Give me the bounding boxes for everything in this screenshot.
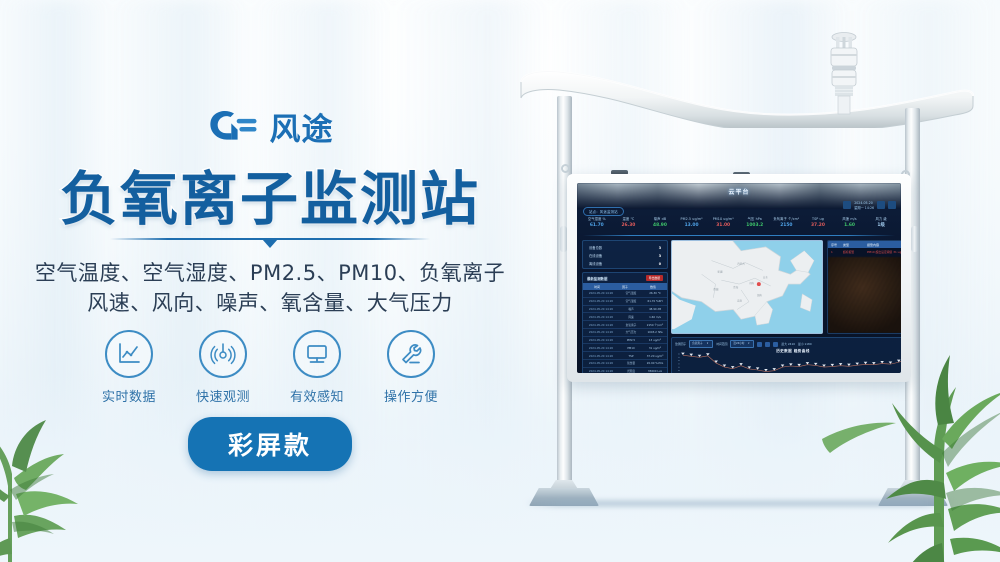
metric-card: PM2.5 ug/m³ 13.00 (676, 216, 708, 236)
feature-label: 实时数据 (99, 386, 159, 405)
alarm-message: PM10 超出设定阈值 31 ug/m³ (864, 249, 901, 255)
metric-card: PM10 ug/m³ 31.00 (707, 216, 739, 236)
metric-value: 1级 (865, 222, 897, 230)
feature-item-fast-observation[interactable]: 快速观测 (193, 330, 253, 405)
table-cell: 2024-05-20 14:20 (583, 360, 619, 367)
table-cell: 2024-05-20 14:20 (583, 290, 619, 297)
alarm-panel[interactable]: 序号 类型 报警内容 1 超标报警 PM10 超出设定阈值 31 ug/m³ (827, 240, 901, 334)
table-cell: 负氧离子 (619, 321, 643, 328)
table-row: 2024-05-20 14:20噪声48.90 dB (583, 306, 667, 314)
table-cell: 2150 个/cm³ (643, 321, 667, 328)
alarm-camera-feed (828, 257, 901, 333)
count-label: 离线设备 (589, 260, 602, 268)
table-row: 2024-05-20 14:20空气湿度61.70 %RH (583, 298, 667, 306)
chart-min-badge: 最小 1180 (798, 342, 812, 346)
feature-list: 实时数据 快速观测 (0, 330, 540, 405)
table-cell: 48.90 dB (643, 306, 667, 313)
chart-fullscreen-icon[interactable] (773, 342, 778, 347)
alarm-column-header: 序号 (828, 241, 840, 248)
metric-value: 31.00 (707, 222, 739, 230)
nav-tile-icon[interactable] (888, 201, 896, 209)
table-header: 最新监测数据 导出数据 (583, 273, 667, 283)
table-cell: 大气压力 (619, 329, 643, 336)
device-count-panel: 设备总数 3 在线设备 3 离线设备 0 (582, 240, 668, 269)
station-map-panel[interactable]: 新疆内蒙古 西藏青海 河南湖南 云南山东 (671, 240, 823, 334)
station-tag: 站点：风途监测站 (583, 207, 624, 216)
metric-card: 噪声 dB 48.90 (644, 216, 676, 236)
trend-line-svg (675, 352, 901, 373)
table-cell: 61.70 %RH (643, 298, 667, 305)
metric-value: 1.60 (834, 222, 866, 230)
cta-button-color-screen[interactable]: 彩屏款 (188, 417, 352, 471)
feature-label: 有效感知 (287, 386, 347, 405)
table-cell: PM2.5 (619, 337, 643, 344)
bezel-knob-right (911, 226, 918, 252)
svg-text:内蒙古: 内蒙古 (737, 262, 745, 266)
brand-lockup: 风途 (0, 104, 540, 149)
ground-shadow (525, 500, 955, 507)
brand-name: 风途 (270, 104, 334, 149)
svg-text:云南: 云南 (737, 299, 743, 303)
export-button[interactable]: 导出数据 (646, 275, 663, 281)
table-cell: 噪声 (619, 306, 643, 313)
subtitle-line-1: 空气温度、空气湿度、PM2.5、PM10、负氧离子 (0, 258, 540, 288)
count-label: 在线设备 (589, 252, 602, 260)
table-cell: 2024-05-20 14:20 (583, 329, 619, 336)
monitoring-station-kiosk: 云平台 站点：风途监测站 2024-05-20 星期一 14:26 空气湿度 %… (505, 30, 975, 530)
table-cell: 2024-05-20 14:20 (583, 352, 619, 359)
count-label: 设备总数 (589, 244, 602, 252)
metric-card: 温度 ℃ 26.30 (613, 216, 645, 236)
feature-item-effective-sensing[interactable]: 有效感知 (287, 330, 347, 405)
table-row: 2024-05-20 14:20风速1.60 m/s (583, 313, 667, 321)
svg-text:新疆: 新疆 (717, 269, 723, 273)
chart-filter-label-1: 监测因子 (675, 342, 686, 346)
table-cell: 35600 Lux (643, 368, 667, 373)
alarm-index: 1 (828, 249, 840, 255)
metric-value: 26.30 (613, 222, 645, 230)
table-cell: 2024-05-20 14:20 (583, 337, 619, 344)
display-bezel: 云平台 站点：风途监测站 2024-05-20 星期一 14:26 空气湿度 %… (567, 174, 911, 382)
svg-text:山东: 山东 (763, 275, 769, 279)
count-row: 设备总数 3 (589, 244, 661, 252)
table-cell: 1.60 m/s (643, 313, 667, 320)
chart-filter-label-2: 时间范围 (716, 342, 727, 346)
promo-banner: 风途 负氧离子监测站 空气温度、空气湿度、PM2.5、PM10、负氧离子 风速、… (0, 0, 1000, 562)
table-cell: 空气温度 (619, 290, 643, 297)
subtitle-line-2: 风速、风向、噪声、氧含量、大气压力 (0, 288, 540, 318)
count-value: 0 (659, 260, 661, 268)
frame-hanger-left-icon (561, 164, 570, 173)
table-cell: 2024-05-20 14:20 (583, 313, 619, 320)
subtitle: 空气温度、空气湿度、PM2.5、PM10、负氧离子 风速、风向、噪声、氧含量、大… (0, 258, 540, 318)
alarm-column-header: 报警内容 (864, 241, 882, 248)
chart-factor-select[interactable]: 负氧离子▾ (689, 340, 713, 348)
table-column-headers: 时间 因子 数值 (583, 283, 667, 290)
dashboard-title: 云平台 (577, 187, 901, 196)
table-cell: TSP (619, 352, 643, 359)
line-chart-icon (105, 330, 153, 378)
column-header: 因子 (611, 283, 639, 290)
radar-sensor-icon (199, 330, 247, 378)
table-body: 2024-05-20 14:20空气温度26.30 ℃2024-05-20 14… (583, 290, 667, 373)
latest-data-table-panel[interactable]: 最新监测数据 导出数据 时间 因子 数值 2024-05-20 14:20空气温… (582, 272, 668, 373)
feature-item-realtime-data[interactable]: 实时数据 (99, 330, 159, 405)
count-row: 在线设备 3 (589, 252, 661, 260)
metric-value: 61.70 (581, 222, 613, 230)
column-header: 时间 (583, 283, 611, 290)
table-row: 2024-05-20 14:20大气压力1003.2 hPa (583, 329, 667, 337)
ultrasonic-weather-sensor-icon (821, 30, 867, 116)
dashboard-topright: 2024-05-20 星期一 14:26 (843, 201, 896, 211)
table-cell: 2024-05-20 14:20 (583, 321, 619, 328)
svg-text:河南: 河南 (749, 281, 755, 285)
chart-filter-bar: 监测因子 负氧离子▾ 时间范围 近24小时▾ 最大 2410 最小 1180 (675, 340, 901, 348)
alarm-row: 1 超标报警 PM10 超出设定阈值 31 ug/m³ (828, 248, 901, 256)
metric-value: 2150 (771, 222, 803, 230)
table-cell: 2024-05-20 14:20 (583, 306, 619, 313)
nav-tile-icon[interactable] (843, 201, 851, 209)
trend-chart-panel[interactable]: 监测因子 负氧离子▾ 时间范围 近24小时▾ 最大 2410 最小 1180 历… (671, 337, 901, 373)
feature-label: 操作方便 (381, 386, 441, 405)
count-value: 3 (659, 252, 661, 260)
table-cell: 1003.2 hPa (643, 329, 667, 336)
table-row: 2024-05-20 14:20TSP37.20 ug/m³ (583, 352, 667, 360)
left-text-panel: 风途 负氧离子监测站 空气温度、空气湿度、PM2.5、PM10、负氧离子 风速、… (0, 0, 540, 562)
metric-value: 37.20 (802, 222, 834, 230)
table-cell: 26.30 ℃ (643, 290, 667, 297)
table-cell: 空气湿度 (619, 298, 643, 305)
chart-plot-area (675, 352, 901, 373)
table-row: 2024-05-20 14:20负氧离子2150 个/cm³ (583, 321, 667, 329)
chart-factor-value: 负氧离子 (692, 341, 702, 347)
svg-text:西藏: 西藏 (713, 287, 719, 291)
metric-card: 气压 hPa 1003.2 (739, 216, 771, 236)
alarm-column-header: 类型 (840, 241, 864, 248)
count-row: 离线设备 0 (589, 260, 661, 268)
table-cell: 31 ug/m³ (643, 344, 667, 351)
table-cell: 2024-05-20 14:20 (583, 298, 619, 305)
chart-export-icon[interactable] (765, 342, 770, 347)
metric-card: 风速 m/s 1.60 (834, 216, 866, 236)
metric-value: 48.90 (644, 222, 676, 230)
table-cell: 2024-05-20 14:20 (583, 344, 619, 351)
table-row: 2024-05-20 14:20氧含量20.90 %VOL (583, 360, 667, 368)
chart-max-badge: 最大 2410 (781, 342, 795, 346)
table-row: 2024-05-20 14:20PM2.513 ug/m³ (583, 337, 667, 345)
table-cell: 氧含量 (619, 360, 643, 367)
metric-card: 风力 级 1级 (865, 216, 897, 236)
metric-strip-rule (583, 235, 895, 236)
metric-card: TSP ug 37.20 (802, 216, 834, 236)
alarm-header: 序号 类型 报警内容 (828, 241, 901, 248)
feature-item-easy-operation[interactable]: 操作方便 (381, 330, 441, 405)
wrench-icon (387, 330, 435, 378)
table-cell: PM10 (619, 344, 643, 351)
metric-card: 空气湿度 % 61.70 (581, 216, 613, 236)
metric-strip: 空气湿度 % 61.70 温度 ℃ 26.30 噪声 dB 48.90 PM2.… (581, 216, 897, 236)
table-cell: 2024-05-20 14:20 (583, 368, 619, 373)
divider-triangle-icon (262, 239, 278, 248)
bezel-knob-left (560, 226, 567, 252)
column-header: 数值 (639, 283, 667, 290)
nav-tile-icon[interactable] (877, 201, 885, 209)
table-row: 2024-05-20 14:20PM1031 ug/m³ (583, 344, 667, 352)
wind-g-logo-icon (207, 107, 261, 147)
table-cell: 20.90 %VOL (643, 360, 667, 367)
table-row: 2024-05-20 14:20光照度35600 Lux (583, 368, 667, 373)
table-cell: 光照度 (619, 368, 643, 373)
chart-range-value: 近24小时 (733, 341, 744, 347)
feature-label: 快速观测 (193, 386, 253, 405)
metric-value: 13.00 (676, 222, 708, 230)
count-value: 3 (659, 244, 661, 252)
svg-text:青海: 青海 (733, 285, 739, 289)
alarm-type: 超标报警 (840, 249, 864, 255)
svg-text:湖南: 湖南 (757, 293, 763, 297)
metric-value: 1003.2 (739, 222, 771, 230)
table-cell: 风速 (619, 313, 643, 320)
monitor-display-icon (293, 330, 341, 378)
chart-view-toggle-icon[interactable] (757, 342, 762, 347)
page-title: 负氧离子监测站 (0, 152, 540, 236)
table-cell: 37.20 ug/m³ (643, 352, 667, 359)
dashboard-screen[interactable]: 云平台 站点：风途监测站 2024-05-20 星期一 14:26 空气湿度 %… (577, 183, 901, 373)
asia-map-icon: 新疆内蒙古 西藏青海 河南湖南 云南山东 (672, 241, 822, 333)
table-cell: 13 ug/m³ (643, 337, 667, 344)
metric-card: 负氧离子 个/cm³ 2150 (771, 216, 803, 236)
table-row: 2024-05-20 14:20空气温度26.30 ℃ (583, 290, 667, 298)
title-divider (110, 236, 430, 250)
dashboard-time: 星期一 14:26 (854, 206, 874, 211)
chart-range-select[interactable]: 近24小时▾ (730, 340, 754, 348)
table-title: 最新监测数据 (587, 276, 607, 281)
